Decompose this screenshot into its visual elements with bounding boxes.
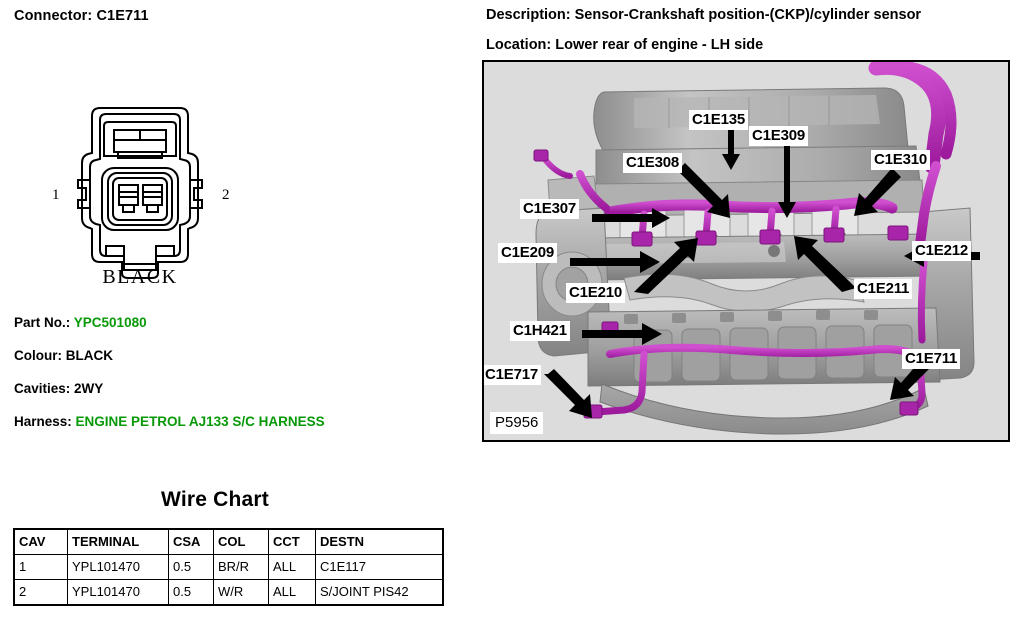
- cell-col: W/R: [214, 580, 269, 606]
- callout-c1e717: C1E717: [482, 365, 541, 385]
- location-row: Location: Lower rear of engine - LH side: [486, 38, 921, 54]
- colour-label: Colour:: [14, 348, 62, 363]
- callout-c1e309: C1E309: [749, 126, 808, 146]
- part-number-label: Part No.:: [14, 315, 70, 330]
- cavities-label: Cavities:: [14, 381, 70, 396]
- cell-col: BR/R: [214, 555, 269, 580]
- callout-c1e307: C1E307: [520, 199, 579, 219]
- location-text: Location: Lower rear of engine - LH side: [486, 37, 763, 53]
- connector-heading-text: Connector: C1E711: [14, 8, 149, 24]
- part-number-row: Part No.: YPC501080: [14, 316, 454, 331]
- column-header-cav: CAV: [14, 529, 68, 555]
- cavities-value: 2WY: [74, 381, 103, 396]
- cavities-row: Cavities: 2WY: [14, 382, 454, 397]
- wire-chart-table: CAV TERMINAL CSA COL CCT DESTN 1 YPL1014…: [13, 528, 444, 606]
- wire-chart-title: Wire Chart: [0, 488, 430, 512]
- callout-c1e210: C1E210: [566, 283, 625, 303]
- cell-cct: ALL: [269, 555, 316, 580]
- harness-row: Harness: ENGINE PETROL AJ133 S/C HARNESS: [14, 415, 454, 430]
- table-row: 1 YPL101470 0.5 BR/R ALL C1E117: [14, 555, 443, 580]
- table-header-row: CAV TERMINAL CSA COL CCT DESTN: [14, 529, 443, 555]
- harness-value: ENGINE PETROL AJ133 S/C HARNESS: [76, 414, 325, 429]
- description-text: Description: Sensor-Crankshaft position-…: [486, 7, 921, 23]
- photo-id-label: P5956: [490, 412, 543, 434]
- callout-c1e308: C1E308: [623, 153, 682, 173]
- description-block: Description: Sensor-Crankshaft position-…: [486, 8, 921, 54]
- part-number-value: YPC501080: [74, 315, 147, 330]
- cell-terminal: YPL101470: [68, 580, 169, 606]
- engine-photo-panel: C1E135 C1E308 C1E309 C1E310 C1E307 C1E20…: [482, 60, 1010, 442]
- description-row: Description: Sensor-Crankshaft position-…: [486, 8, 921, 24]
- cell-terminal: YPL101470: [68, 555, 169, 580]
- callout-c1e209: C1E209: [498, 243, 557, 263]
- callout-c1e310: C1E310: [871, 150, 930, 170]
- cell-csa: 0.5: [169, 580, 214, 606]
- cell-cct: ALL: [269, 580, 316, 606]
- cell-cav: 1: [14, 555, 68, 580]
- part-details-block: Part No.: YPC501080 Colour: BLACK Caviti…: [14, 316, 454, 429]
- cell-cav: 2: [14, 580, 68, 606]
- callout-c1e135: C1E135: [689, 110, 748, 130]
- callout-c1e211: C1E211: [854, 279, 912, 299]
- harness-label: Harness:: [14, 414, 72, 429]
- callout-c1e711: C1E711: [902, 349, 960, 369]
- callout-c1h421: C1H421: [510, 321, 570, 341]
- cell-csa: 0.5: [169, 555, 214, 580]
- column-header-terminal: TERMINAL: [68, 529, 169, 555]
- connector-pin-1-number: 1: [52, 187, 60, 203]
- column-header-col: COL: [214, 529, 269, 555]
- cell-destn: S/JOINT PIS42: [316, 580, 444, 606]
- colour-value: BLACK: [66, 348, 113, 363]
- callout-c1e212: C1E212: [912, 241, 971, 261]
- cell-destn: C1E117: [316, 555, 444, 580]
- table-row: 2 YPL101470 0.5 W/R ALL S/JOINT PIS42: [14, 580, 443, 606]
- wire-chart-table-wrapper: CAV TERMINAL CSA COL CCT DESTN 1 YPL1014…: [13, 528, 444, 606]
- column-header-cct: CCT: [269, 529, 316, 555]
- connector-pin-2-number: 2: [222, 187, 230, 203]
- connector-heading: Connector: C1E711: [14, 8, 149, 24]
- connector-colour-caption: BLACK: [102, 266, 177, 288]
- connector-diagram: 1 2 BLACK: [30, 68, 250, 293]
- column-header-destn: DESTN: [316, 529, 444, 555]
- column-header-csa: CSA: [169, 529, 214, 555]
- colour-row: Colour: BLACK: [14, 349, 454, 364]
